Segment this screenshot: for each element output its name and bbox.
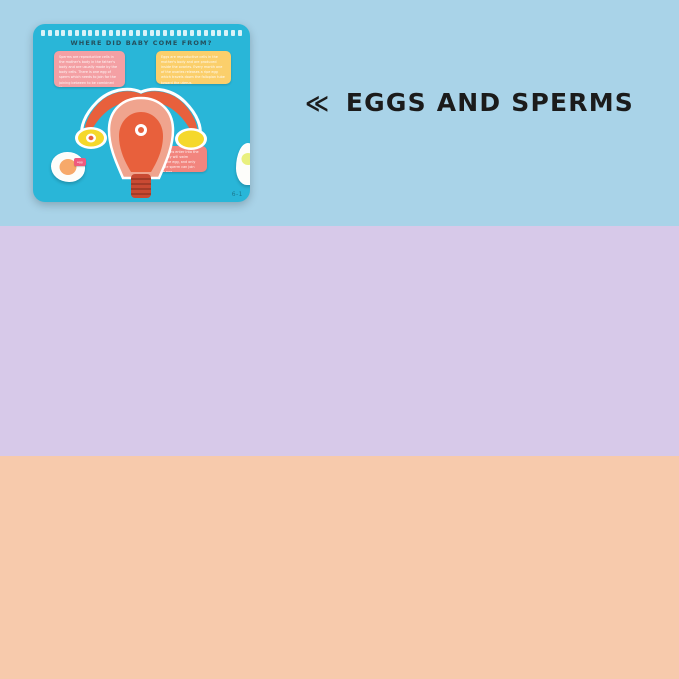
- panel-where-did-i-come-from: WHERE DID I COME FROM? ≫ Kid:Mommy, wher…: [0, 226, 679, 456]
- caption-eggs-and-sperms: ≪ EGGS AND SPERMS: [305, 88, 634, 117]
- panel-yes-or-no: YES or NO ✔ Sometimes a doctor or nurse …: [0, 456, 679, 679]
- page-number: 6-1: [232, 191, 243, 198]
- chevron-left-icon: ≪: [305, 91, 326, 117]
- caption-text: EGGS AND SPERMS: [346, 88, 634, 117]
- egg-character: [51, 152, 85, 182]
- sperm-character: [236, 143, 250, 185]
- spiral-binding: [41, 29, 242, 36]
- product-image-sheet: WHERE DID BABY COME FROM? Sperms are rep…: [0, 0, 679, 679]
- uterus-diagram-icon: [61, 82, 221, 200]
- note-yellow: Eggs are reproductive cells in the mothe…: [156, 51, 231, 84]
- page-title: WHERE DID BABY COME FROM?: [33, 39, 250, 47]
- panel-eggs-and-sperms: WHERE DID BABY COME FROM? Sperms are rep…: [0, 0, 679, 226]
- egg-tag: egg: [74, 158, 86, 166]
- where-did-baby-come-from-page: WHERE DID BABY COME FROM? Sperms are rep…: [33, 24, 250, 202]
